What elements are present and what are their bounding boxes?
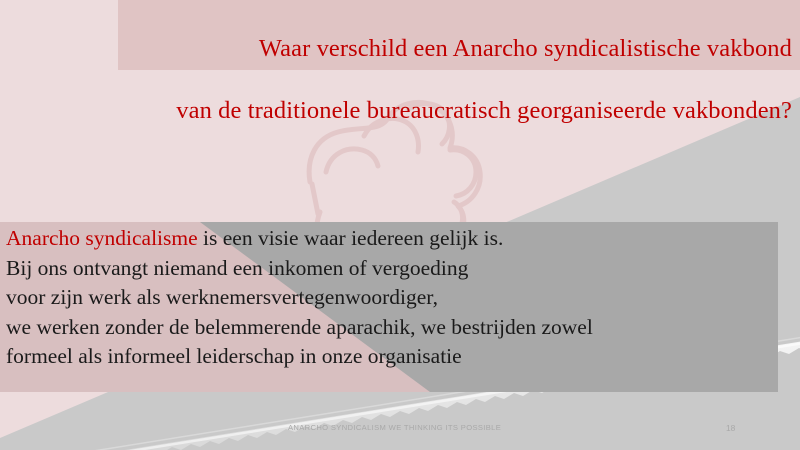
- body-line-1: Anarcho syndicalisme is een visie waar i…: [6, 224, 776, 254]
- body-line-3: voor zijn werk als werknemersvertegenwoo…: [6, 283, 776, 313]
- body-line-1-rest: is een visie waar iedereen gelijk is.: [198, 226, 504, 250]
- title-line-1: Waar verschild een Anarcho syndicalistis…: [118, 33, 796, 64]
- body-line-5: formeel als informeel leiderschap in onz…: [6, 342, 776, 372]
- footer-caption: ANARCHO SYNDICALISM WE THINKING ITS POSS…: [288, 423, 501, 432]
- slide-canvas: Waar verschild een Anarcho syndicalistis…: [0, 0, 800, 450]
- slide-footer: ANARCHO SYNDICALISM WE THINKING ITS POSS…: [0, 423, 800, 437]
- title-line-2: van de traditionele bureaucratisch georg…: [118, 95, 796, 126]
- page-number: 18: [726, 423, 735, 433]
- body-line-2: Bij ons ontvangt niemand een inkomen of …: [6, 254, 776, 284]
- page-title: Waar verschild een Anarcho syndicalistis…: [118, 2, 796, 157]
- body-accent-term: Anarcho syndicalisme: [6, 226, 198, 250]
- body-line-4: we werken zonder de belemmerende aparach…: [6, 313, 776, 343]
- body-content: Anarcho syndicalisme is een visie waar i…: [6, 224, 776, 372]
